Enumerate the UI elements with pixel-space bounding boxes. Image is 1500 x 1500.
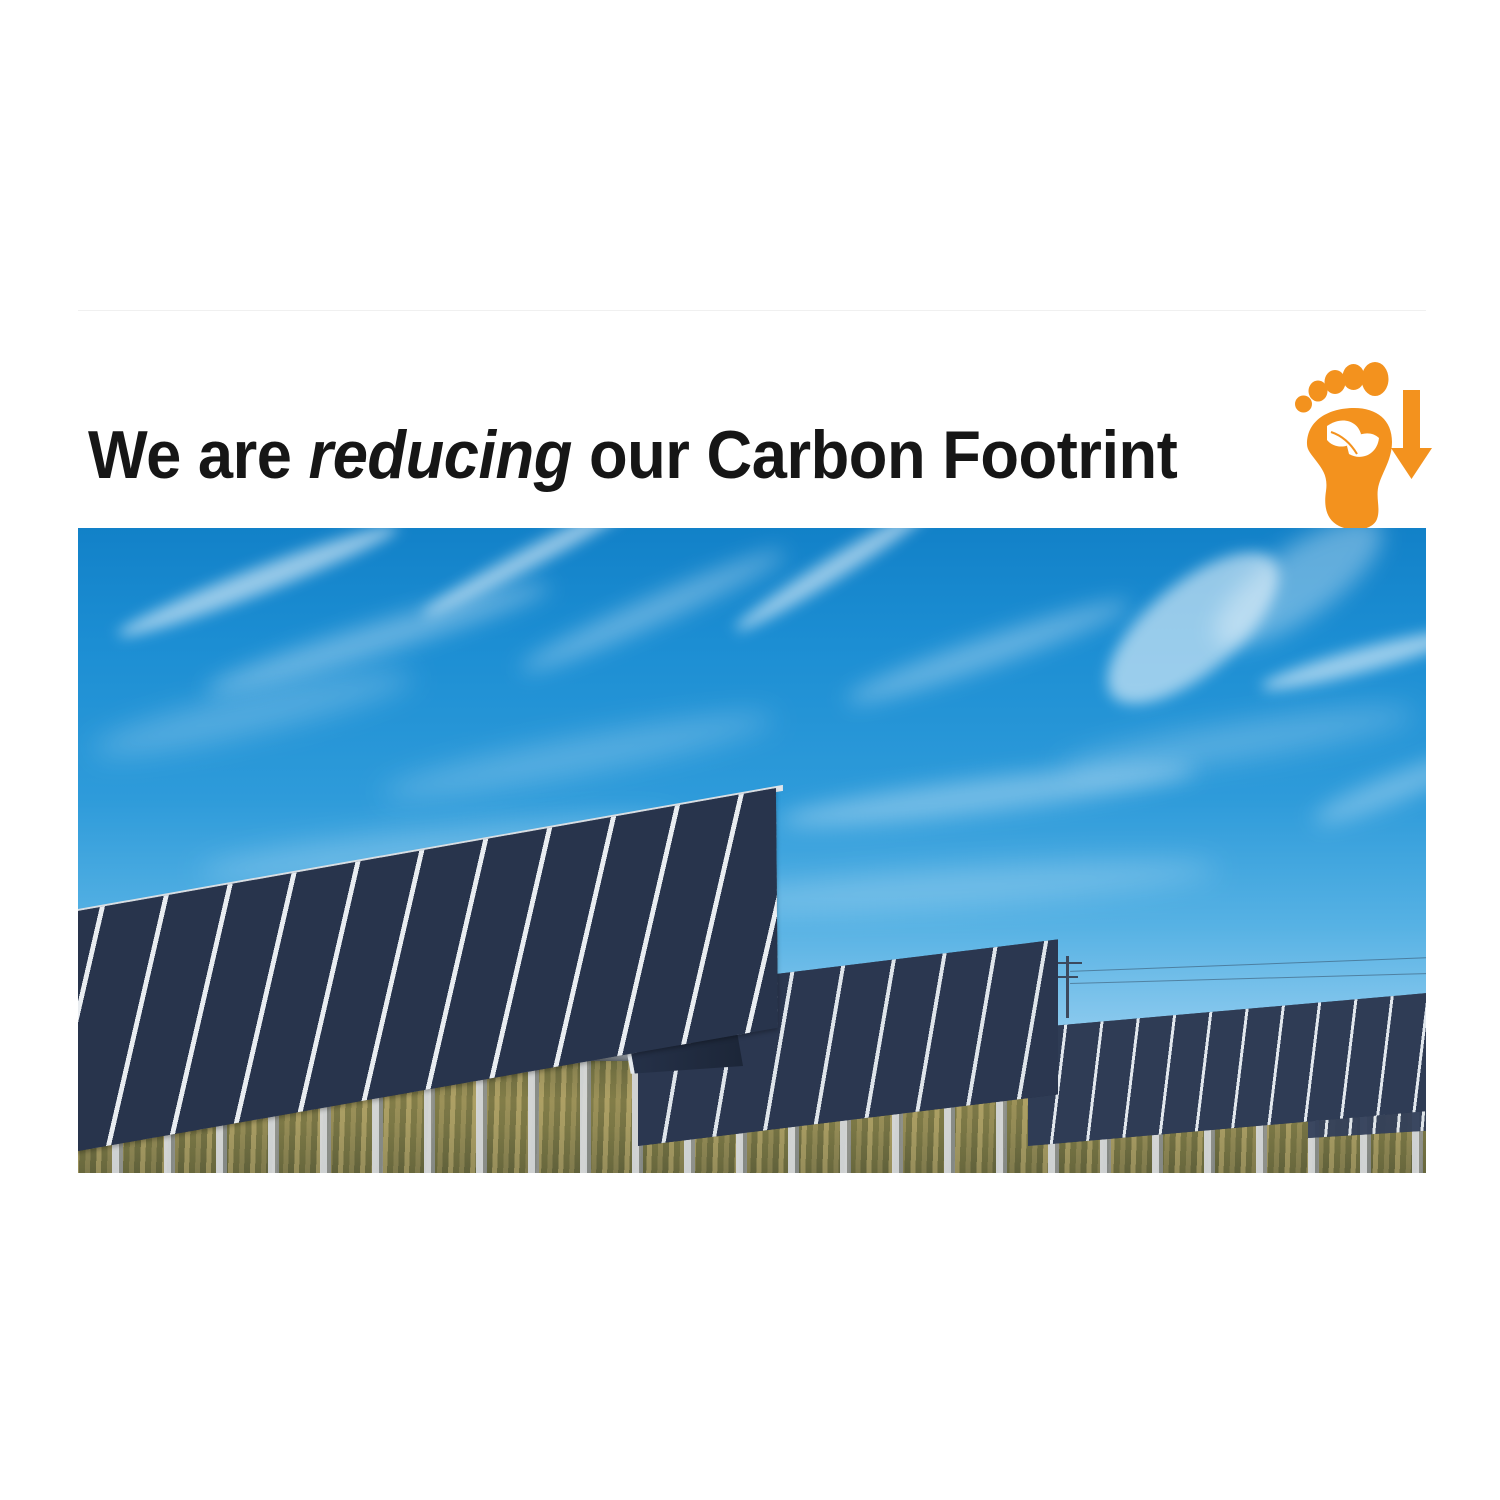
toe-2 (1343, 364, 1365, 390)
slide-top-divider (78, 310, 1426, 311)
headline-part-2: our Carbon Footrint (572, 417, 1177, 493)
arrow-head (1391, 448, 1432, 479)
arrow-shaft (1403, 390, 1420, 453)
toe-3 (1325, 370, 1346, 394)
headline-part-1: We are (88, 417, 309, 493)
page-title: We are reducing our Carbon Footrint (88, 416, 1177, 494)
down-arrow-icon (1391, 390, 1432, 479)
footprint-logo-svg (1291, 358, 1436, 533)
slide-canvas: We are reducing our Carbon Footrint (0, 0, 1500, 1500)
carbon-footprint-reduction-logo (1291, 358, 1436, 533)
toe-5 (1295, 396, 1312, 413)
solar-panel-field-photo: Our foambeak’s are manufactured using on… (78, 528, 1426, 1173)
power-pylon (1066, 956, 1069, 1018)
headline-row: We are reducing our Carbon Footrint (88, 358, 1438, 518)
toe-1-big (1362, 362, 1389, 396)
headline-emphasis: reducing (309, 417, 572, 493)
